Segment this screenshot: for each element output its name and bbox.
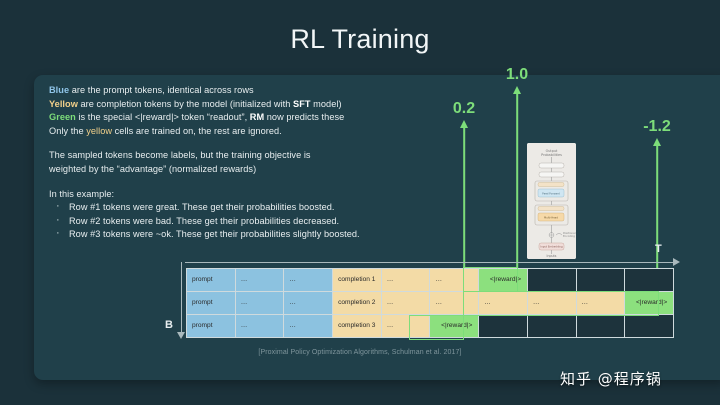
token-grid-body: prompt……completion 1……<|reward|>prompt……… (187, 269, 674, 338)
grid-cell-empty (527, 315, 576, 338)
grid-cell-prompt: prompt (187, 292, 236, 315)
legend-line3-a: is the special <|reward|> token “readout… (76, 112, 250, 122)
legend-line1-rest: are the prompt tokens, identical across … (69, 85, 254, 95)
list-item: Row #2 tokens were bad. These get their … (49, 215, 469, 229)
grid-cell-prompt: prompt (187, 269, 236, 292)
svg-text:Input Embedding: Input Embedding (540, 245, 563, 249)
legend-keyword-blue: Blue (49, 85, 69, 95)
legend-keyword-yellow: Yellow (49, 99, 78, 109)
grid-cell-reward: <|reward|> (479, 269, 528, 292)
grid-cell-empty (576, 315, 625, 338)
svg-text:Feed Forward: Feed Forward (542, 192, 560, 196)
advantage-value-row2: 1.0 (506, 66, 528, 84)
transformer-diagram-icon: Output Probabilities Feed Forward Multi-… (527, 143, 576, 259)
legend-line-blue: Blue are the prompt tokens, identical ac… (49, 84, 469, 98)
table-row: prompt……completion 3…<|reward|> (187, 315, 674, 338)
grid-cell-reward: <|reward|> (625, 292, 674, 315)
watermark: 知乎 @程序锅 (560, 368, 662, 389)
legend-spacer-1 (49, 138, 469, 149)
legend-yellow-inline: yellow (86, 126, 112, 136)
legend-line-yellow: Yellow are completion tokens by the mode… (49, 98, 469, 112)
list-item: Row #1 tokens were great. These get thei… (49, 201, 469, 215)
source-caption: [Proximal Policy Optimization Algorithms… (0, 349, 720, 356)
legend-line-trained: Only the yellow cells are trained on, th… (49, 125, 469, 139)
grid-cell-prompt: … (284, 315, 333, 338)
grid-cell-completion: … (430, 269, 479, 292)
legend-line2-b: model) (311, 99, 342, 109)
legend-sft-bold: SFT (293, 99, 311, 109)
table-row: prompt……completion 1……<|reward|> (187, 269, 674, 292)
page-title: RL Training (0, 24, 720, 55)
grid-cell-completion: … (381, 315, 430, 338)
legend-block: Blue are the prompt tokens, identical ac… (49, 84, 469, 242)
grid-cell-prompt: … (235, 315, 284, 338)
legend-rm-bold: RM (250, 112, 264, 122)
svg-text:Inputs: Inputs (547, 254, 557, 258)
grid-cell-completion: … (430, 292, 479, 315)
grid-cell-empty (625, 269, 674, 292)
legend-example-header: In this example: (49, 188, 469, 202)
legend-line2-a: are completion tokens by the model (init… (78, 99, 293, 109)
time-axis-arrow-icon (673, 258, 680, 266)
grid-cell-empty (625, 315, 674, 338)
svg-text:Probabilities: Probabilities (541, 153, 562, 157)
grid-cell-prompt: prompt (187, 315, 236, 338)
grid-cell-empty (527, 269, 576, 292)
svg-text:Encoding: Encoding (563, 234, 575, 238)
slide-root: RL Training Blue are the prompt tokens, … (0, 0, 720, 405)
grid-cell-empty (479, 315, 528, 338)
list-item: Row #3 tokens were ~ok. These get their … (49, 228, 469, 242)
token-grid: prompt……completion 1……<|reward|>prompt……… (186, 268, 674, 338)
grid-cell-prompt: … (284, 269, 333, 292)
grid-cell-completion: … (479, 292, 528, 315)
grid-cell-completion: … (576, 292, 625, 315)
legend-para2-line2: weighted by the “advantage” (normalized … (49, 163, 469, 177)
grid-cell-prompt: … (284, 292, 333, 315)
legend-para2-line1: The sampled tokens become labels, but th… (49, 149, 469, 163)
legend-line4-b: cells are trained on, the rest are ignor… (112, 126, 282, 136)
time-axis-label: T (655, 243, 662, 255)
grid-cell-empty (576, 269, 625, 292)
arrow-shaft (516, 92, 518, 268)
batch-axis-label: B (165, 319, 173, 331)
arrow-shaft (463, 126, 465, 268)
legend-keyword-green: Green (49, 112, 76, 122)
legend-bullet-list: Row #1 tokens were great. These get thei… (49, 201, 469, 242)
time-axis-line (185, 262, 675, 263)
grid-cell-prompt: … (235, 269, 284, 292)
batch-axis-line (181, 262, 182, 334)
grid-cell-prompt: … (235, 292, 284, 315)
legend-line3-b: now predicts these (264, 112, 344, 122)
batch-axis-arrow-icon (177, 332, 185, 339)
grid-cell-completion: … (381, 292, 430, 315)
grid-cell-completion: completion 1 (333, 269, 382, 292)
svg-text:Multi-Head: Multi-Head (544, 216, 558, 220)
grid-cell-completion: … (381, 269, 430, 292)
legend-line4-a: Only the (49, 126, 86, 136)
advantage-value-row1: 0.2 (453, 100, 475, 118)
advantage-value-row3: -1.2 (643, 118, 671, 136)
legend-line-green: Green is the special <|reward|> token “r… (49, 111, 469, 125)
legend-spacer-2 (49, 177, 469, 188)
grid-cell-completion: completion 2 (333, 292, 382, 315)
grid-cell-completion: … (527, 292, 576, 315)
grid-cell-reward: <|reward|> (430, 315, 479, 338)
table-row: prompt……completion 2……………<|reward|> (187, 292, 674, 315)
grid-cell-completion: completion 3 (333, 315, 382, 338)
